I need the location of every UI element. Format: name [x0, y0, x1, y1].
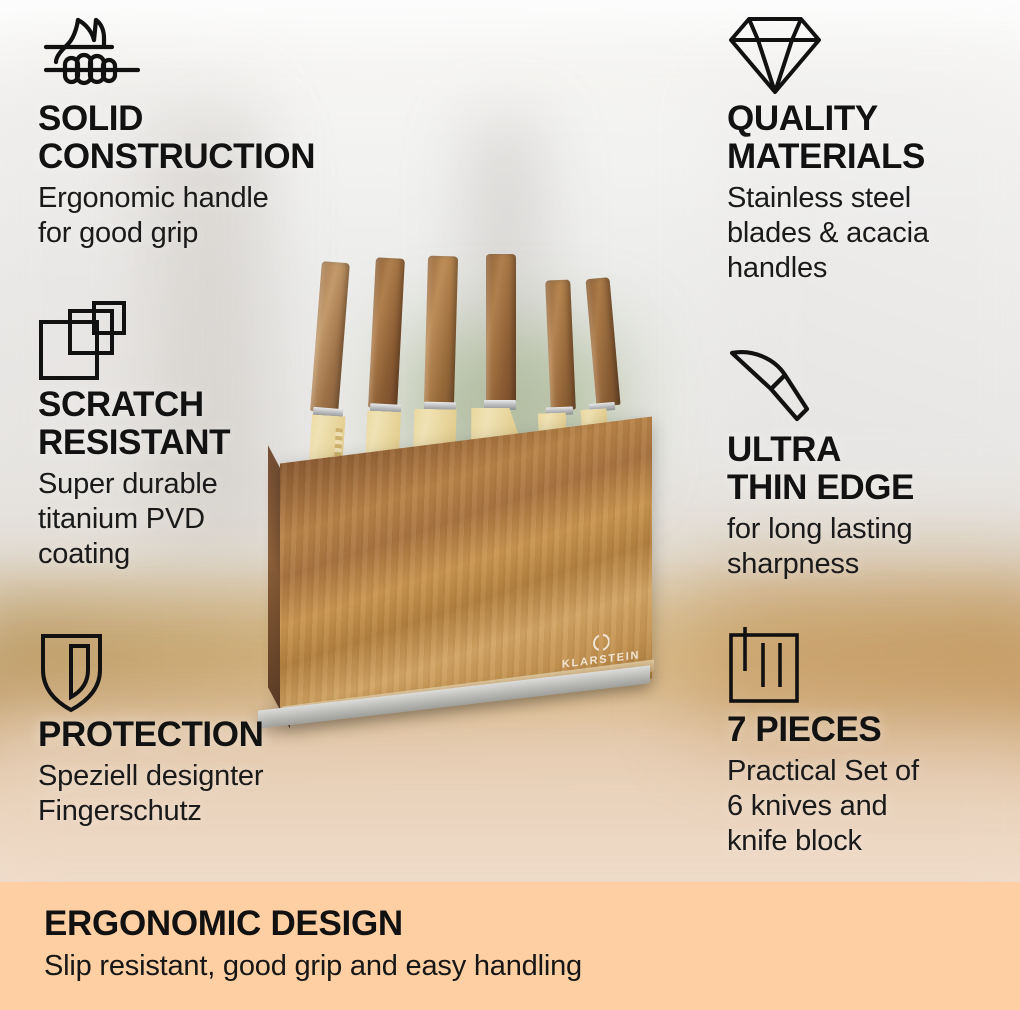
feature-title: PROTECTION [38, 716, 368, 754]
knife-handle [545, 280, 576, 411]
product-infographic: KLARSTEIN SOLID CONSTRUCTION Ergonomic h… [0, 0, 1020, 1010]
hand-grip-icon [38, 14, 368, 90]
feature-title: QUALITY MATERIALS [727, 100, 1017, 176]
knife-handle [424, 256, 458, 407]
diamond-icon [727, 14, 1017, 90]
banner-subtitle: Slip resistant, good grip and easy handl… [44, 950, 1020, 983]
feature-title: ULTRA THIN EDGE [727, 431, 1017, 507]
ergonomic-design-banner: ERGONOMIC DESIGN Slip resistant, good gr… [0, 882, 1020, 1010]
knife-handle [585, 277, 620, 407]
knife-icon [727, 345, 1017, 421]
feature-description: Super durable titanium PVD coating [38, 467, 368, 571]
knife-block-icon [727, 625, 1017, 701]
feature-scratch-resistant: SCRATCH RESISTANT Super durable titanium… [38, 300, 368, 572]
feature-description: Ergonomic handle for good grip [38, 181, 368, 251]
banner-title: ERGONOMIC DESIGN [44, 904, 1020, 944]
feature-description: Stainless steel blades & acacia handles [727, 181, 1017, 285]
feature-protection: PROTECTION Speziell designter Fingerschu… [38, 630, 368, 829]
feature-title: SOLID CONSTRUCTION [38, 100, 368, 176]
shield-icon [38, 630, 368, 706]
feature-title: SCRATCH RESISTANT [38, 386, 368, 462]
overlapping-squares-icon [38, 300, 368, 376]
feature-ultra-thin-edge: ULTRA THIN EDGE for long lasting sharpne… [727, 345, 1017, 582]
feature-solid-construction: SOLID CONSTRUCTION Ergonomic handle for … [38, 14, 368, 251]
feature-description: Practical Set of 6 knives and knife bloc… [727, 754, 1017, 858]
feature-seven-pieces: 7 PIECES Practical Set of 6 knives and k… [727, 625, 1017, 859]
feature-quality-materials: QUALITY MATERIALS Stainless steel blades… [727, 14, 1017, 286]
knife-handle [368, 257, 405, 408]
feature-title: 7 PIECES [727, 711, 1017, 749]
feature-description: Speziell designter Fingerschutz [38, 759, 368, 829]
feature-description: for long lasting sharpness [727, 512, 1017, 582]
knife-handle [486, 254, 516, 404]
